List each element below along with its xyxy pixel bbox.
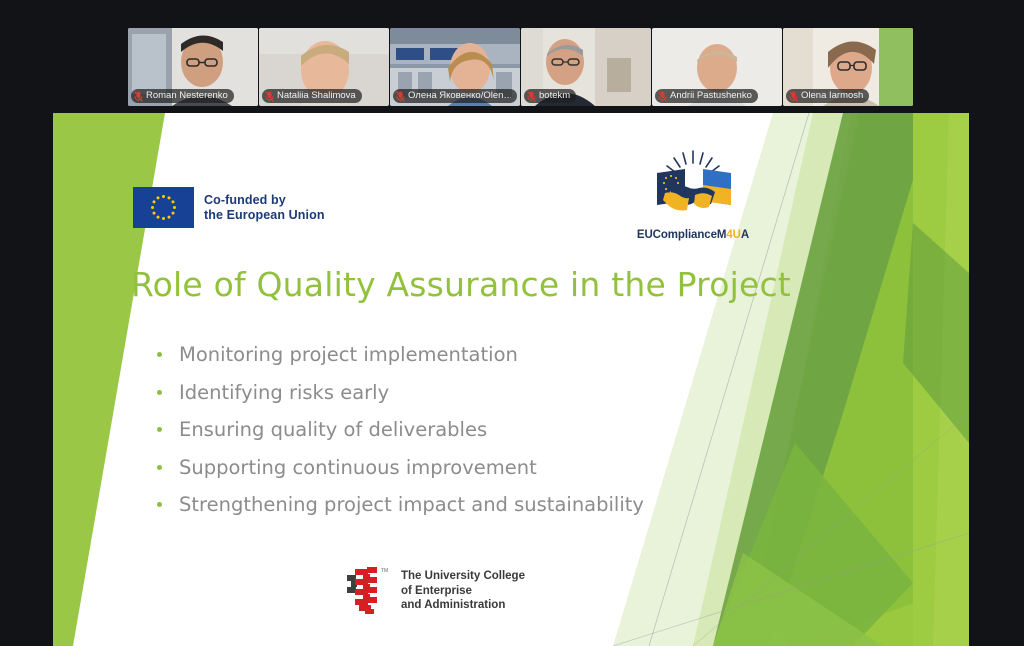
- mic-muted-icon: [134, 91, 143, 102]
- project-name-part2: A: [741, 229, 749, 241]
- participant-tile[interactable]: Olena Iarmosh: [783, 28, 913, 106]
- mic-muted-icon: [658, 91, 667, 102]
- eu-flag-icon: [133, 187, 194, 228]
- university-text: The University College of Enterprise and…: [401, 569, 525, 613]
- bullet-label: Monitoring project implementation: [179, 343, 518, 367]
- eu-cofunding-logo: Co-funded by the European Union: [133, 187, 325, 228]
- participant-name: Olena Iarmosh: [801, 90, 863, 102]
- mic-muted-icon: [265, 91, 274, 102]
- svg-text:TM: TM: [381, 568, 388, 574]
- project-logo: EUComplianceM4UA: [613, 149, 773, 241]
- eu-cofunding-text: Co-funded by the European Union: [204, 193, 325, 223]
- participant-badge: Roman Nesterenko: [131, 89, 234, 103]
- bullet-dot-icon: [157, 465, 162, 470]
- participant-name: Andrii Pastushenko: [670, 90, 752, 102]
- participant-name: Олена Яковенко/Olen…: [408, 90, 511, 102]
- bullet-label: Identifying risks early: [179, 381, 389, 405]
- university-emblem-icon: TM: [345, 565, 391, 617]
- participant-tile[interactable]: Nataliia Shalimova: [259, 28, 389, 106]
- slide-bullet-list: Monitoring project implementation Identi…: [157, 343, 797, 531]
- bullet-item: Identifying risks early: [157, 381, 797, 419]
- bullet-dot-icon: [157, 427, 162, 432]
- mic-muted-icon: [789, 91, 798, 102]
- slide-content: Co-funded by the European Union: [53, 113, 969, 646]
- participant-tile[interactable]: Roman Nesterenko: [128, 28, 258, 106]
- bullet-label: Supporting continuous improvement: [179, 456, 537, 480]
- participant-badge: Andrii Pastushenko: [655, 89, 758, 103]
- eu-cofunding-line2: the European Union: [204, 208, 325, 223]
- screen-share-view: Roman Nesterenko Nataliia Shalimova: [0, 0, 1024, 646]
- mic-muted-icon: [396, 91, 405, 102]
- bullet-item: Monitoring project implementation: [157, 343, 797, 381]
- eu-cofunding-line1: Co-funded by: [204, 193, 325, 208]
- slide-title: Role of Quality Assurance in the Project: [131, 265, 791, 304]
- participant-filmstrip: Roman Nesterenko Nataliia Shalimova: [128, 28, 913, 106]
- bullet-dot-icon: [157, 502, 162, 507]
- handshake-flags-icon: [643, 149, 743, 227]
- bullet-dot-icon: [157, 390, 162, 395]
- participant-badge: Olena Iarmosh: [786, 89, 869, 103]
- participant-badge: botekm: [524, 89, 576, 103]
- project-logo-name: EUComplianceM4UA: [613, 229, 773, 241]
- participant-tile[interactable]: Andrii Pastushenko: [652, 28, 782, 106]
- bullet-item: Supporting continuous improvement: [157, 456, 797, 494]
- bullet-item: Strengthening project impact and sustain…: [157, 493, 797, 531]
- participant-name: botekm: [539, 90, 570, 102]
- shared-slide[interactable]: Co-funded by the European Union: [53, 113, 969, 646]
- project-name-part1: EUComplianceM: [637, 229, 726, 241]
- participant-name: Nataliia Shalimova: [277, 90, 356, 102]
- university-line1: The University College: [401, 569, 525, 584]
- university-logo: TM The University College of Enterprise …: [345, 565, 525, 617]
- participant-tile[interactable]: Олена Яковенко/Olen…: [390, 28, 520, 106]
- bullet-item: Ensuring quality of deliverables: [157, 418, 797, 456]
- bullet-dot-icon: [157, 352, 162, 357]
- bullet-label: Strengthening project impact and sustain…: [179, 493, 644, 517]
- university-line3: and Administration: [401, 598, 525, 613]
- mic-muted-icon: [527, 91, 536, 102]
- project-name-highlight: 4U: [726, 229, 741, 241]
- participant-name: Roman Nesterenko: [146, 90, 228, 102]
- bullet-label: Ensuring quality of deliverables: [179, 418, 487, 442]
- participant-badge: Nataliia Shalimova: [262, 89, 362, 103]
- participant-badge: Олена Яковенко/Olen…: [393, 89, 517, 103]
- participant-tile[interactable]: botekm: [521, 28, 651, 106]
- university-line2: of Enterprise: [401, 584, 525, 599]
